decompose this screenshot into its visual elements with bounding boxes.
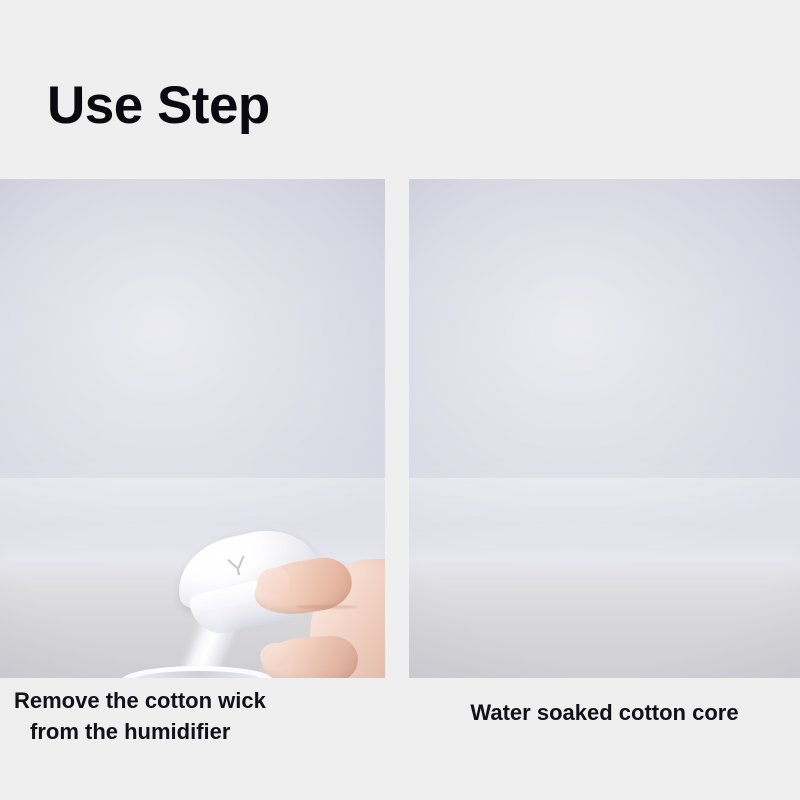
infographic-page: Use Step — [0, 0, 800, 800]
photo-vignette — [409, 179, 800, 678]
caption-line-1: Remove the cotton wick — [14, 685, 266, 716]
step-1-photo-panel — [0, 179, 385, 678]
step-2-caption: Water soaked cotton core — [409, 697, 800, 728]
photo-vignette — [0, 179, 385, 678]
step-2-photo-panel — [409, 179, 800, 678]
caption-line-1: Water soaked cotton core — [409, 697, 800, 728]
caption-line-2: from the humidifier — [14, 716, 266, 747]
page-title: Use Step — [47, 79, 270, 132]
step-1-caption: Remove the cotton wick from the humidifi… — [14, 685, 266, 747]
